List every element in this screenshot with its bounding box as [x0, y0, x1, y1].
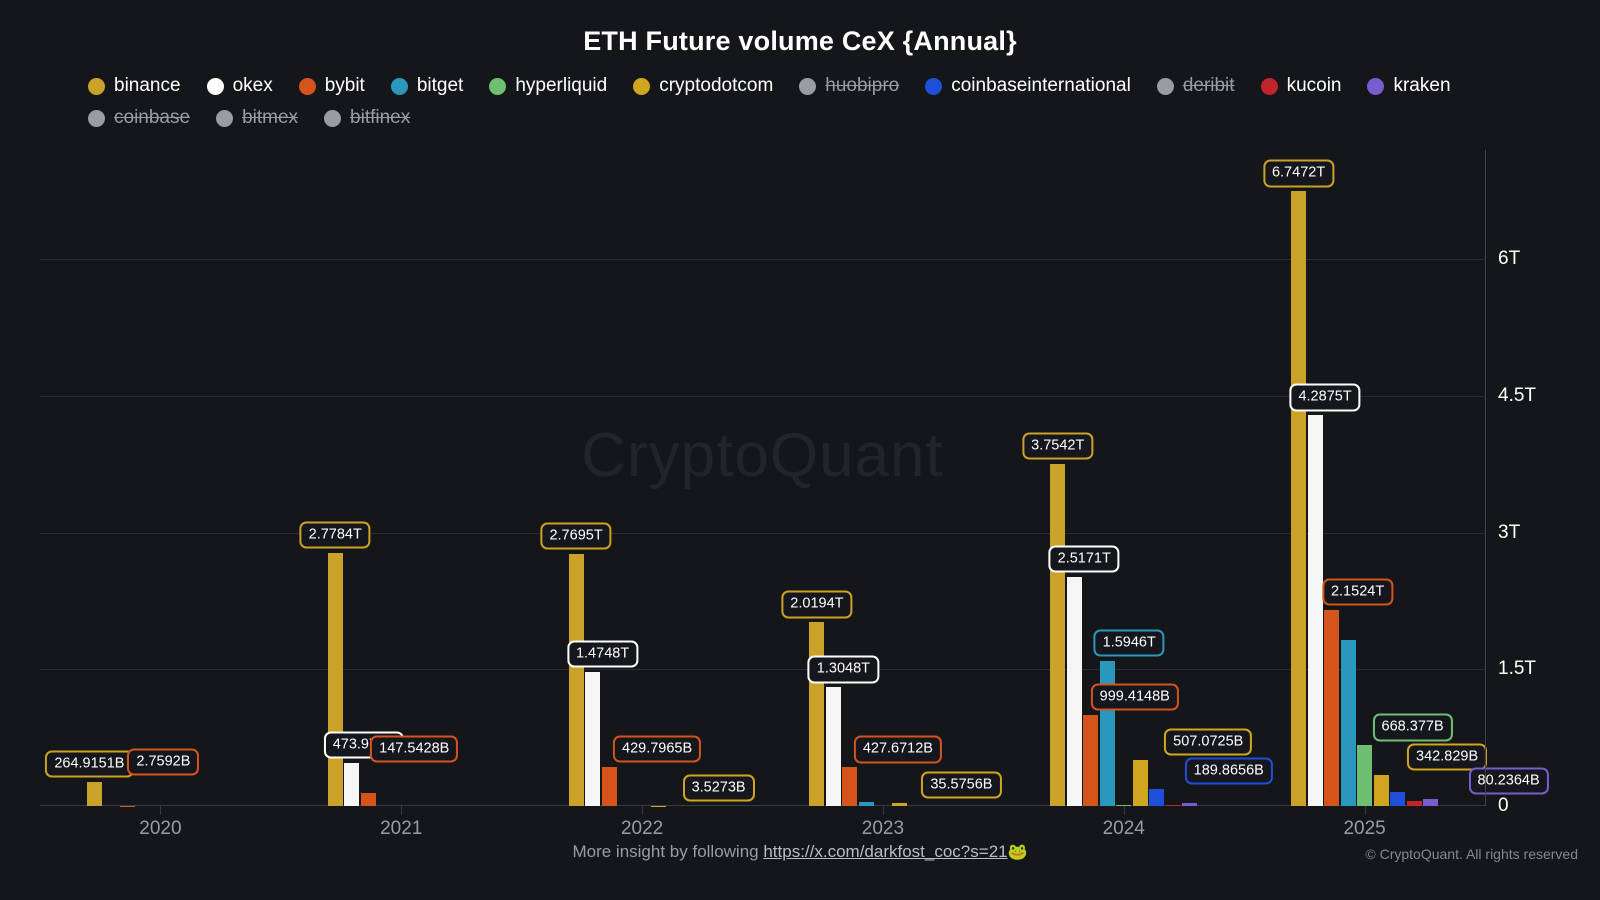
x-axis-tick-mark [642, 806, 643, 815]
y-axis-tick-label: 0 [1498, 795, 1509, 817]
y-axis-tick-label: 3T [1498, 522, 1520, 544]
x-axis-tick-label: 2020 [139, 818, 181, 840]
bar-bybit-2021[interactable] [361, 793, 376, 806]
plot-area: CryptoQuant 264.9151B2.7592B2.7784T473.9… [40, 150, 1485, 806]
data-label-bybit-2022: 429.7965B [613, 735, 701, 763]
legend-swatch-okex-icon [207, 78, 224, 95]
bar-bitget-2023[interactable] [859, 802, 874, 806]
x-axis-tick-label: 2024 [1103, 818, 1145, 840]
legend-item-label: bitget [417, 75, 463, 97]
watermark: CryptoQuant [40, 420, 1485, 491]
data-label-binance-2025: 6.7472T [1263, 160, 1334, 188]
data-label-okex-2024: 2.5171T [1049, 545, 1120, 573]
legend-item-label: bybit [325, 75, 365, 97]
legend-item-label: kucoin [1287, 75, 1342, 97]
legend-item-bitfinex[interactable]: bitfinex [324, 104, 410, 132]
data-label-cryptodotcom-2022: 3.5273B [683, 774, 755, 802]
bar-cryptodotcom-2025[interactable] [1374, 775, 1389, 806]
bar-coinbaseinternational-2025[interactable] [1390, 792, 1405, 806]
data-label-okex-2025: 4.2875T [1289, 384, 1360, 412]
y-axis-tick-label: 6T [1498, 248, 1520, 270]
legend-item-label: hyperliquid [515, 75, 607, 97]
bar-kraken-2024[interactable] [1182, 803, 1197, 806]
legend-swatch-bybit-icon [299, 78, 316, 95]
frog-icon: 🐸 [1008, 844, 1028, 861]
bar-binance-2020[interactable] [87, 782, 102, 806]
bar-kucoin-2024[interactable] [1166, 805, 1181, 806]
gridline [40, 669, 1485, 670]
legend-item-label: bitmex [242, 107, 298, 129]
legend-swatch-coinbase-icon [88, 110, 105, 127]
bar-bitget-2025[interactable] [1341, 640, 1356, 806]
legend-item-coinbase[interactable]: coinbase [88, 104, 190, 132]
x-axis-tick-mark [401, 806, 402, 815]
y-axis-tick-label: 1.5T [1498, 658, 1536, 680]
legend-item-kraken[interactable]: kraken [1367, 72, 1450, 100]
data-label-okex-2023: 1.3048T [808, 656, 879, 684]
footer-note: More insight by following https://x.com/… [0, 842, 1600, 862]
data-label-bitget-2024: 1.5946T [1094, 629, 1165, 657]
legend-item-label: coinbase [114, 107, 190, 129]
legend-item-label: okex [233, 75, 273, 97]
data-label-bybit-2024: 999.4148B [1091, 683, 1179, 711]
legend-swatch-huobipro-icon [799, 78, 816, 95]
legend-swatch-deribit-icon [1157, 78, 1174, 95]
x-axis-tick-label: 2023 [862, 818, 904, 840]
x-axis-line [40, 805, 1485, 806]
legend-swatch-bitfinex-icon [324, 110, 341, 127]
data-label-cryptodotcom-2024: 507.0725B [1164, 728, 1252, 756]
data-label-binance-2022: 2.7695T [540, 522, 611, 550]
data-label-binance-2021: 2.7784T [300, 521, 371, 549]
gridline [40, 533, 1485, 534]
y-axis-tick-label: 4.5T [1498, 385, 1536, 407]
legend-item-hyperliquid[interactable]: hyperliquid [489, 72, 607, 100]
legend-item-label: coinbaseinternational [951, 75, 1131, 97]
legend-swatch-hyperliquid-icon [489, 78, 506, 95]
x-axis-tick-label: 2025 [1343, 818, 1385, 840]
bar-binance-2021[interactable] [328, 553, 343, 806]
legend-swatch-cryptodotcom-icon [633, 78, 650, 95]
legend-swatch-kucoin-icon [1261, 78, 1278, 95]
bar-bybit-2024[interactable] [1083, 715, 1098, 806]
bar-kraken-2025[interactable] [1423, 799, 1438, 806]
x-axis-tick-label: 2021 [380, 818, 422, 840]
data-label-binance-2020: 264.9151B [45, 750, 133, 778]
legend-item-bitmex[interactable]: bitmex [216, 104, 298, 132]
data-label-kraken-2025: 80.2364B [1469, 767, 1549, 795]
bar-okex-2024[interactable] [1067, 577, 1082, 806]
bar-okex-2021[interactable] [344, 763, 359, 806]
legend-swatch-bitmex-icon [216, 110, 233, 127]
bar-okex-2023[interactable] [826, 687, 841, 806]
bar-bybit-2023[interactable] [842, 767, 857, 806]
x-axis-tick-mark [160, 806, 161, 815]
data-label-bybit-2025: 2.1524T [1322, 578, 1393, 606]
legend-swatch-binance-icon [88, 78, 105, 95]
x-axis-tick-mark [1365, 806, 1366, 815]
legend-item-okex[interactable]: okex [207, 72, 273, 100]
legend-swatch-bitget-icon [391, 78, 408, 95]
bar-kucoin-2025[interactable] [1407, 801, 1422, 806]
x-axis-tick-label: 2022 [621, 818, 663, 840]
legend-item-bybit[interactable]: bybit [299, 72, 365, 100]
legend-item-huobipro[interactable]: huobipro [799, 72, 899, 100]
bar-okex-2022[interactable] [585, 672, 600, 806]
bar-cryptodotcom-2024[interactable] [1133, 760, 1148, 806]
bar-okex-2025[interactable] [1308, 415, 1323, 806]
y-axis-line [1485, 150, 1486, 806]
legend-item-deribit[interactable]: deribit [1157, 72, 1235, 100]
data-label-binance-2024: 3.7542T [1022, 432, 1093, 460]
legend-item-bitget[interactable]: bitget [391, 72, 463, 100]
legend-item-cryptodotcom[interactable]: cryptodotcom [633, 72, 773, 100]
bar-hyperliquid-2025[interactable] [1357, 745, 1372, 806]
footer-link[interactable]: https://x.com/darkfost_coc?s=21 [763, 842, 1007, 861]
legend-item-label: huobipro [825, 75, 899, 97]
legend-item-kucoin[interactable]: kucoin [1261, 72, 1342, 100]
bar-bybit-2025[interactable] [1324, 610, 1339, 806]
data-label-bybit-2021: 147.5428B [370, 735, 458, 763]
data-label-okex-2022: 1.4748T [567, 640, 638, 668]
legend-item-label: bitfinex [350, 107, 410, 129]
gridline [40, 396, 1485, 397]
legend-item-label: cryptodotcom [659, 75, 773, 97]
data-label-binance-2023: 2.0194T [781, 591, 852, 619]
bar-binance-2022[interactable] [569, 554, 584, 806]
x-axis-tick-mark [883, 806, 884, 815]
bar-binance-2025[interactable] [1291, 191, 1306, 806]
gridline [40, 259, 1485, 260]
legend-item-label: deribit [1183, 75, 1235, 97]
legend-item-label: kraken [1393, 75, 1450, 97]
legend-item-binance[interactable]: binance [88, 72, 181, 100]
data-label-coinbaseinternational-2024: 189.8656B [1185, 757, 1273, 785]
x-axis-tick-mark [1124, 806, 1125, 815]
data-label-bybit-2023: 427.6712B [854, 736, 942, 764]
legend-item-label: binance [114, 75, 181, 97]
footer-note-prefix: More insight by following [572, 842, 763, 861]
bar-coinbaseinternational-2024[interactable] [1149, 789, 1164, 806]
data-label-hyperliquid-2025: 668.377B [1373, 714, 1453, 742]
bar-bybit-2022[interactable] [602, 767, 617, 806]
data-label-cryptodotcom-2023: 35.5756B [921, 771, 1001, 799]
chart-legend[interactable]: binanceokexbybitbitgethyperliquidcryptod… [88, 72, 1538, 132]
bar-cryptodotcom-2023[interactable] [892, 803, 907, 806]
copyright-text: © CryptoQuant. All rights reserved [1365, 846, 1578, 862]
page-title: ETH Future volume CeX {Annual} [0, 26, 1600, 57]
bar-binance-2023[interactable] [809, 622, 824, 806]
data-label-bybit-2020: 2.7592B [127, 748, 199, 776]
chart-root: ETH Future volume CeX {Annual} binanceok… [0, 0, 1600, 900]
bar-binance-2024[interactable] [1050, 464, 1065, 806]
legend-item-coinbaseinternational[interactable]: coinbaseinternational [925, 72, 1131, 100]
legend-swatch-coinbaseinternational-icon [925, 78, 942, 95]
legend-swatch-kraken-icon [1367, 78, 1384, 95]
